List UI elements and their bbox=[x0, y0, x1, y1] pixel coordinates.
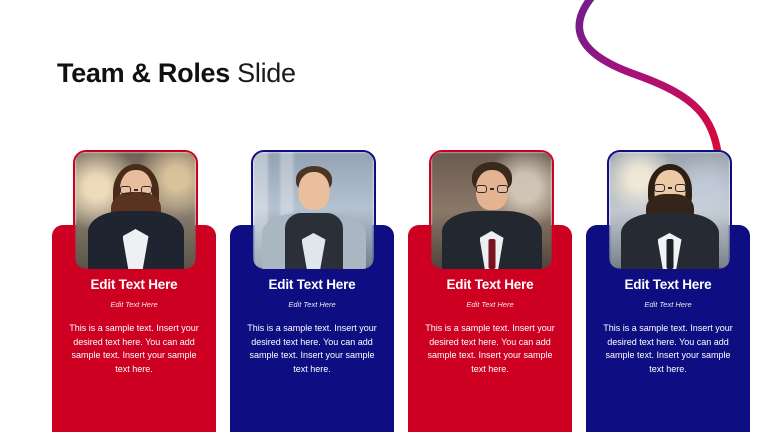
team-photo-2 bbox=[251, 150, 376, 271]
team-photo-1 bbox=[73, 150, 198, 271]
team-card-2[interactable]: Edit Text Here Edit Text Here This is a … bbox=[230, 225, 394, 432]
card-subtitle: Edit Text Here bbox=[52, 300, 216, 310]
team-card-1[interactable]: Edit Text Here Edit Text Here This is a … bbox=[52, 225, 216, 432]
swoosh-curve-icon bbox=[548, 0, 768, 150]
team-card-row: Edit Text Here Edit Text Here This is a … bbox=[52, 225, 750, 432]
card-subtitle: Edit Text Here bbox=[230, 300, 394, 310]
card-title: Edit Text Here bbox=[586, 277, 750, 293]
slide-canvas: Team & Roles Slide Edit Te bbox=[0, 0, 768, 432]
team-card-3[interactable]: Edit Text Here Edit Text Here This is a … bbox=[408, 225, 572, 432]
team-card-4[interactable]: Edit Text Here Edit Text Here This is a … bbox=[586, 225, 750, 432]
page-title-light: Slide bbox=[237, 58, 296, 88]
card-title: Edit Text Here bbox=[230, 277, 394, 293]
card-body: This is a sample text. Insert your desir… bbox=[230, 322, 394, 376]
page-title-bold: Team & Roles bbox=[57, 58, 230, 88]
card-subtitle: Edit Text Here bbox=[408, 300, 572, 310]
card-subtitle: Edit Text Here bbox=[586, 300, 750, 310]
team-photo-4 bbox=[607, 150, 732, 271]
card-body: This is a sample text. Insert your desir… bbox=[52, 322, 216, 376]
team-photo-3 bbox=[429, 150, 554, 271]
card-title: Edit Text Here bbox=[408, 277, 572, 293]
card-body: This is a sample text. Insert your desir… bbox=[408, 322, 572, 376]
page-title: Team & Roles Slide bbox=[57, 56, 296, 90]
card-body: This is a sample text. Insert your desir… bbox=[586, 322, 750, 376]
card-title: Edit Text Here bbox=[52, 277, 216, 293]
